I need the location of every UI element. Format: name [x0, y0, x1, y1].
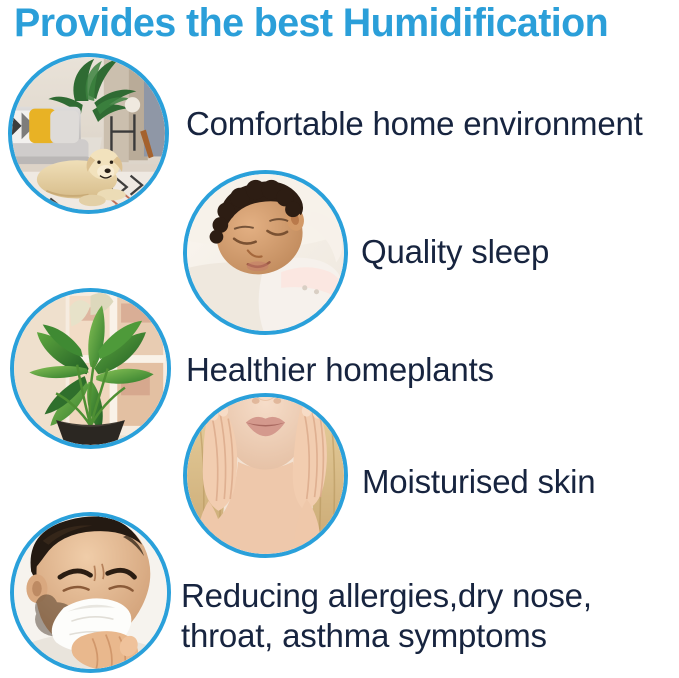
benefit-label-plant: Healthier homeplants [186, 350, 494, 390]
sleeping-baby-photo [183, 170, 348, 335]
benefit-label-sleep: Quality sleep [361, 232, 549, 272]
houseplant-photo [10, 288, 171, 449]
page-title: Provides the best Humidification [14, 0, 669, 46]
man-blowing-nose-photo [10, 512, 171, 673]
living-room-with-dog-photo [8, 53, 169, 214]
benefit-label-home: Comfortable home environment [186, 104, 643, 144]
benefit-label-skin: Moisturised skin [362, 462, 595, 502]
woman-touching-face-photo [183, 393, 348, 558]
benefit-label-allergy: Reducing allergies,dry nose, throat, ast… [181, 576, 592, 656]
